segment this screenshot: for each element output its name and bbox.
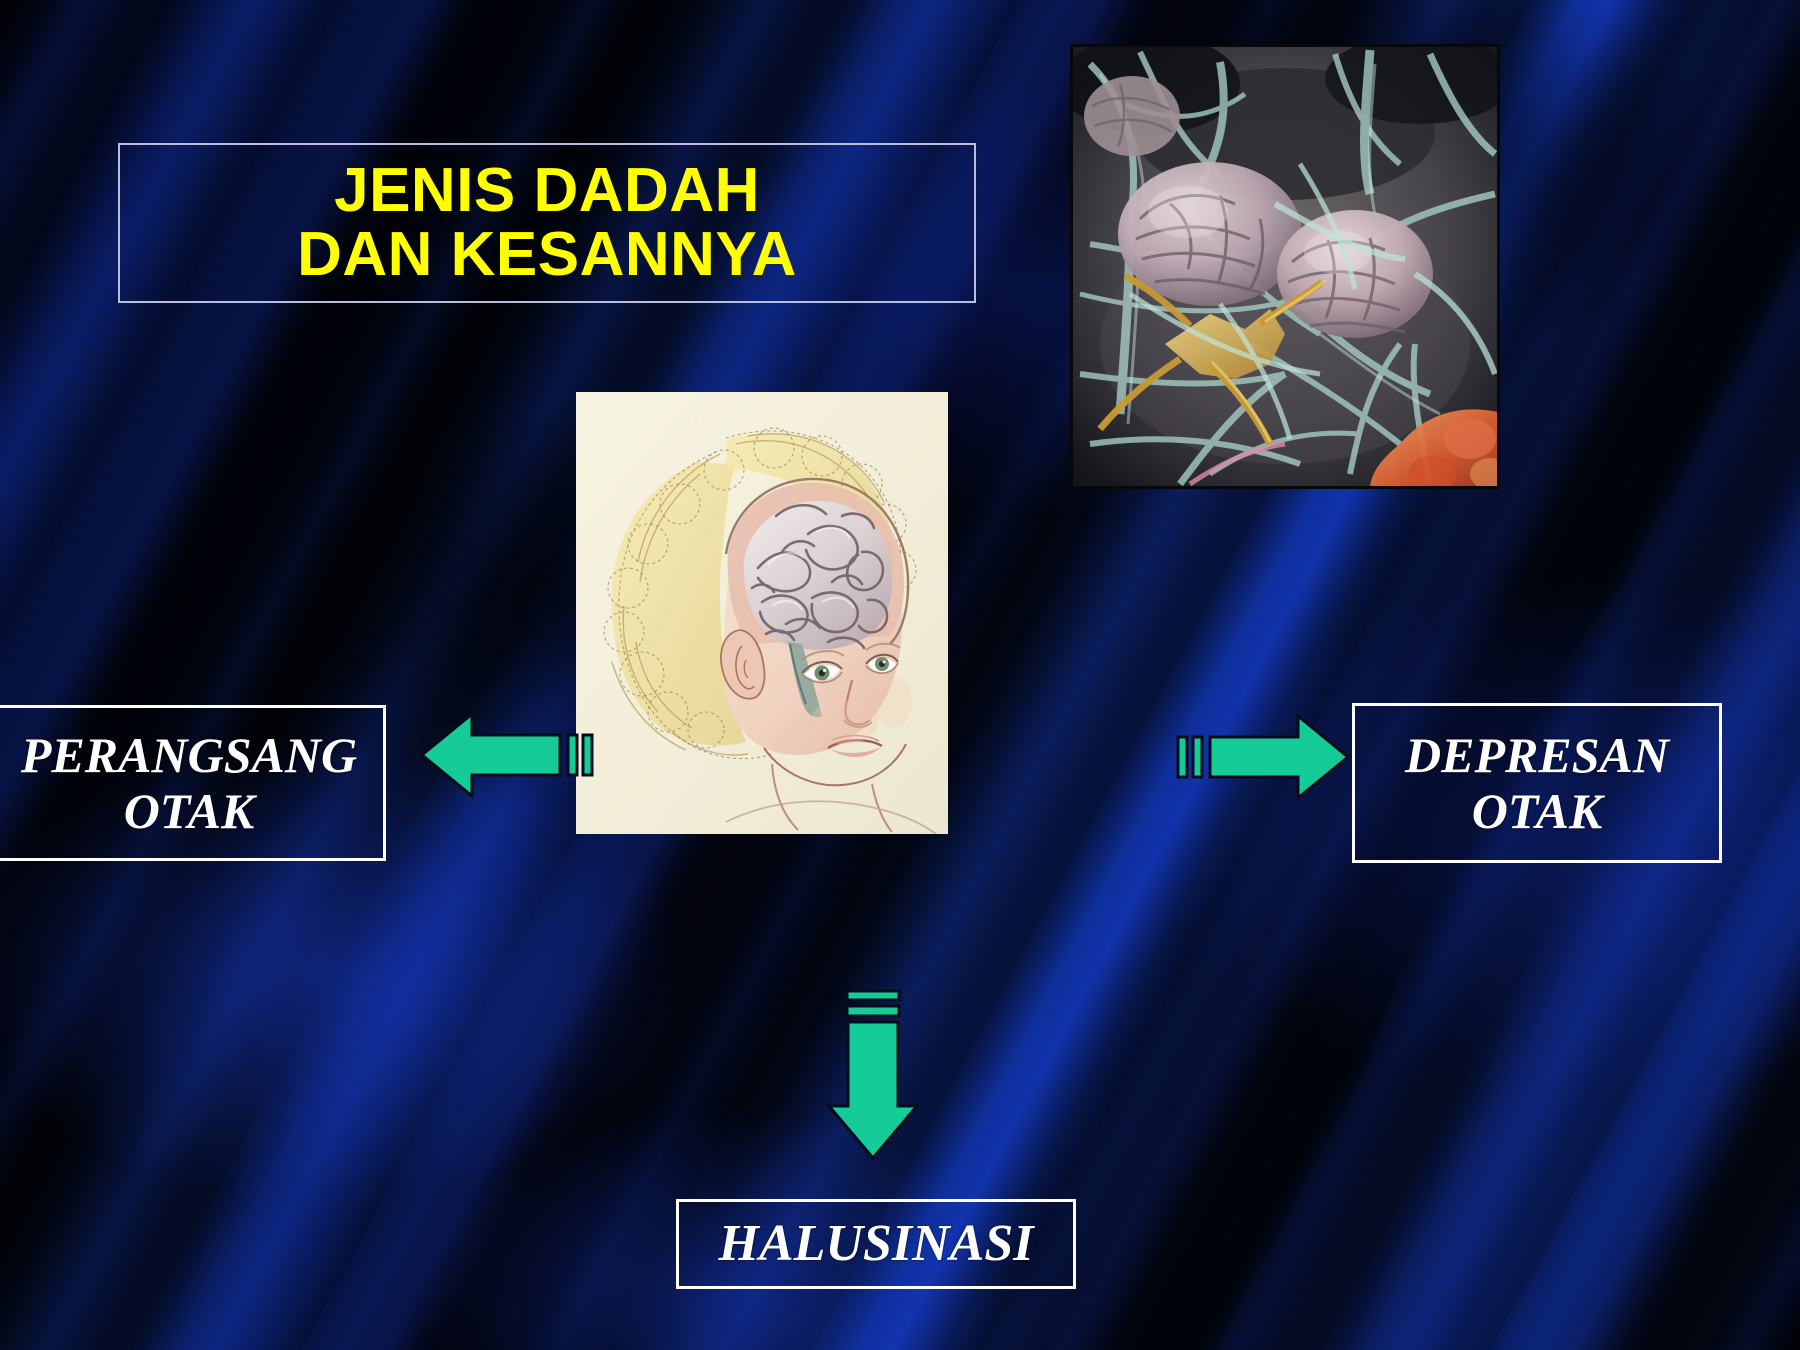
label-perangsang-line-1: PERANGSANG (21, 727, 357, 783)
neuron-network-graphic (1070, 44, 1500, 489)
label-depresan-line-1: DEPRESAN (1405, 727, 1669, 783)
neuron-network-image (1070, 44, 1500, 489)
slide-title-line-1: JENIS DADAH (334, 159, 760, 223)
label-box-halusinasi: HALUSINASI (676, 1199, 1076, 1289)
arrow-left-icon (420, 700, 595, 810)
label-depresan-line-2: OTAK (1472, 783, 1603, 839)
slide-canvas: JENIS DADAH DAN KESANNYA (0, 0, 1800, 1350)
label-box-perangsang-otak: PERANGSANG OTAK (0, 705, 386, 861)
label-perangsang-line-2: OTAK (124, 783, 255, 839)
child-head-brain-graphic (576, 392, 948, 834)
child-head-brain-image (576, 392, 948, 834)
arrow-right-icon (1175, 702, 1350, 812)
slide-title-line-2: DAN KESANNYA (297, 223, 797, 287)
slide-title-box: JENIS DADAH DAN KESANNYA (118, 143, 976, 303)
label-halusinasi-line-1: HALUSINASI (719, 1215, 1034, 1273)
arrow-down-icon (818, 988, 928, 1160)
label-box-depresan-otak: DEPRESAN OTAK (1352, 703, 1722, 863)
